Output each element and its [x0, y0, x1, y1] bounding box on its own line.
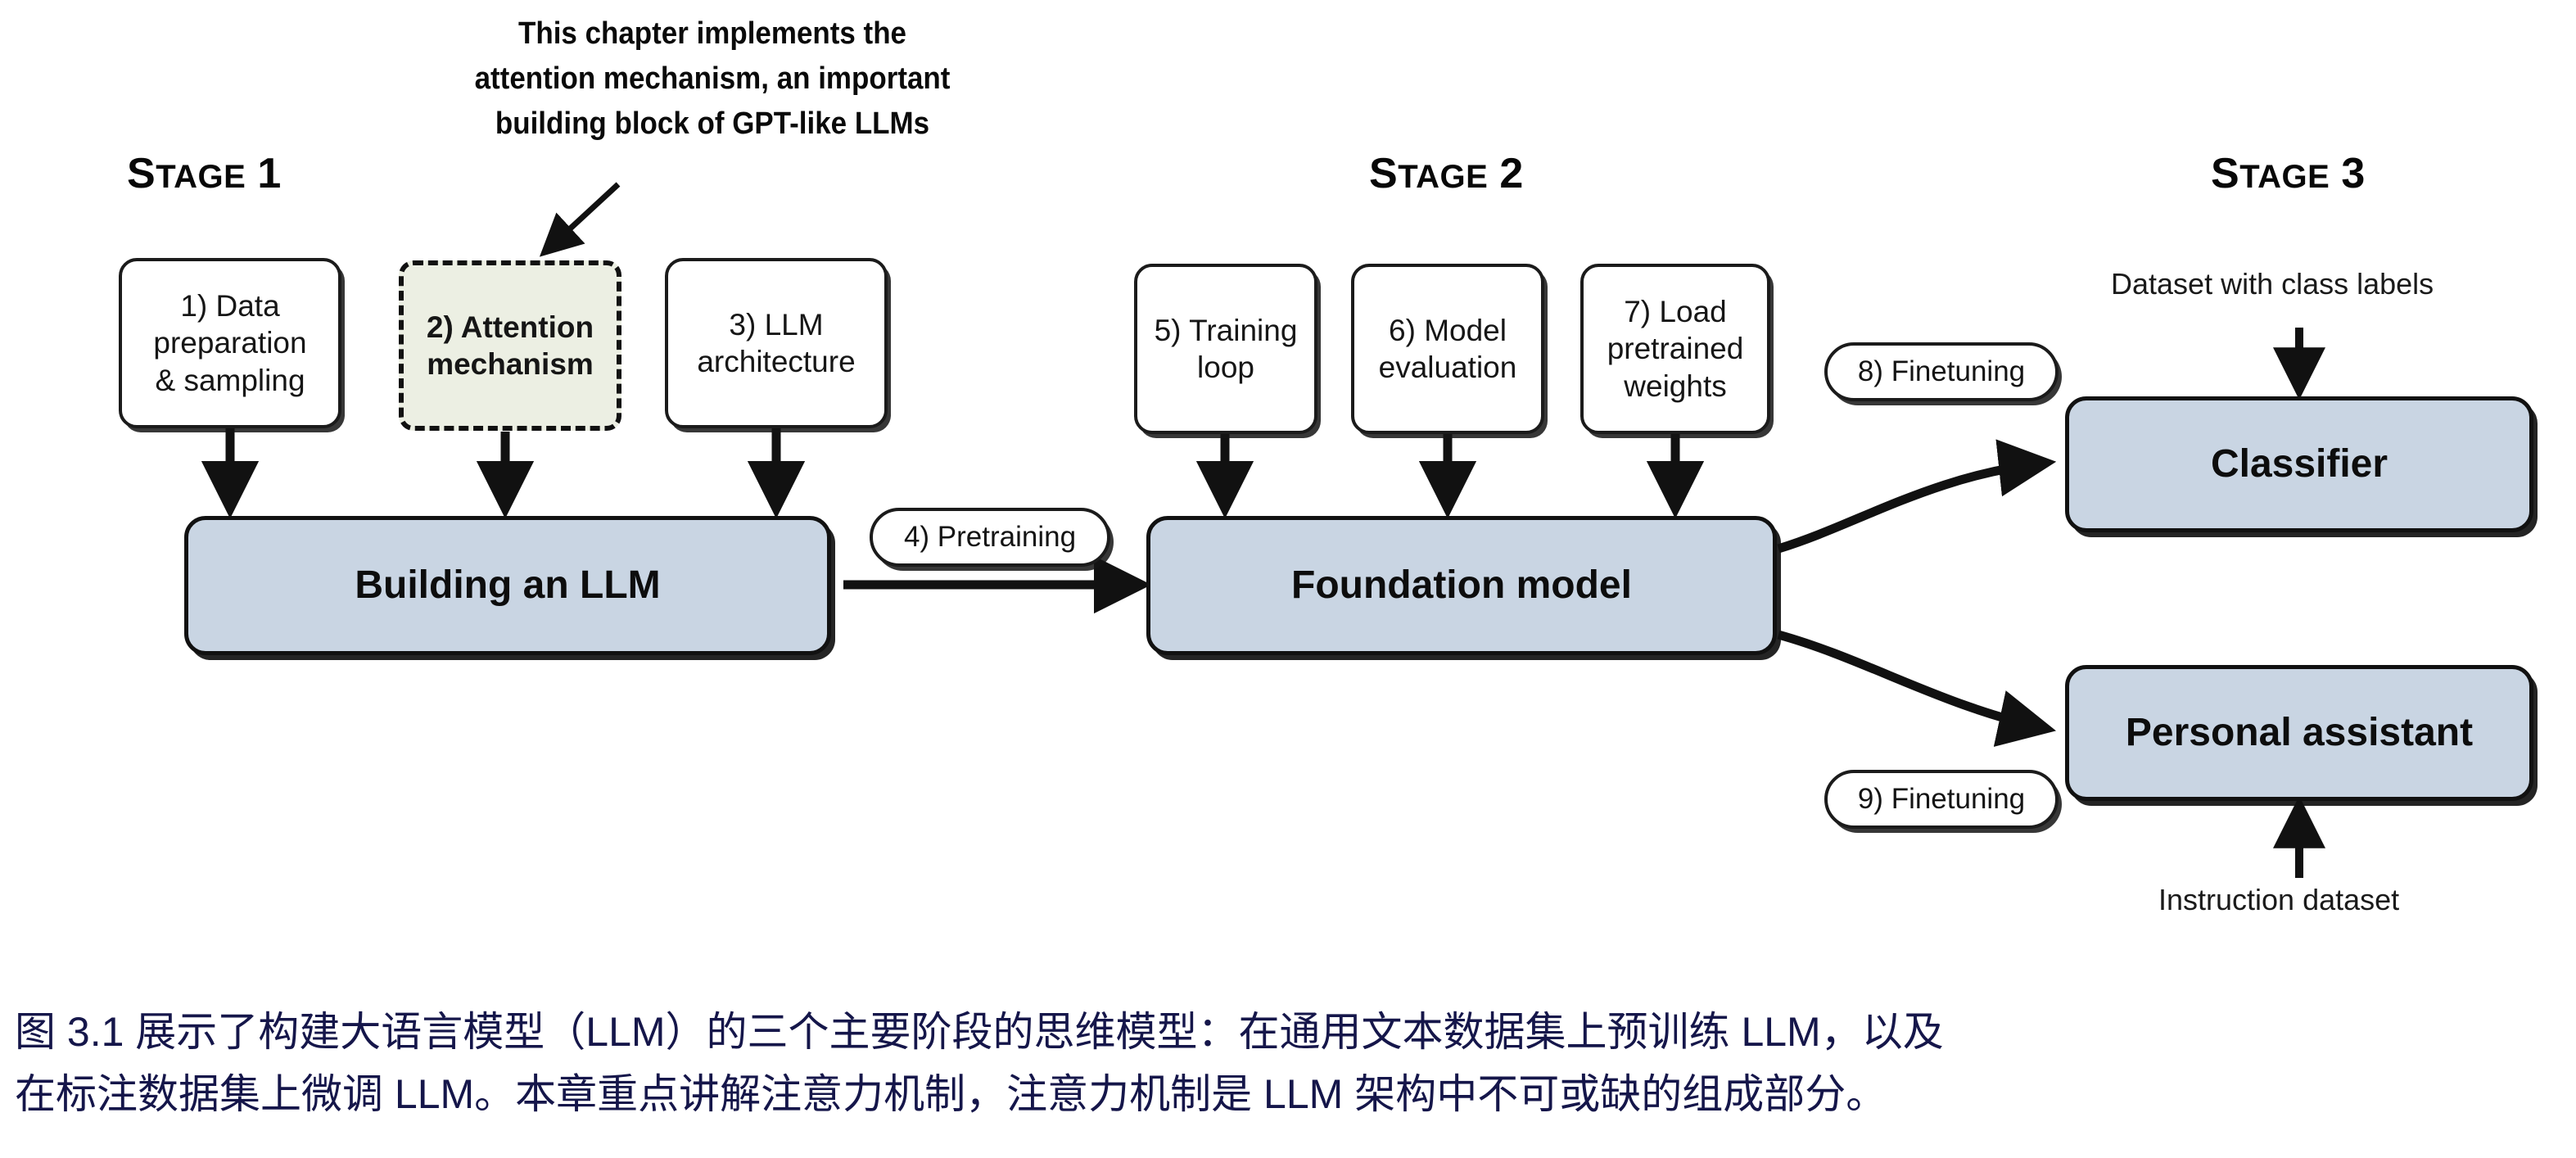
card3-line-2: architecture	[697, 343, 855, 380]
step-card-attention-mechanism[interactable]: 2) Attention mechanism	[399, 260, 621, 431]
stage1-number: 1	[257, 150, 281, 197]
card1-line-1: 1) Data	[153, 287, 306, 324]
callout-line-1: This chapter implements the	[426, 11, 998, 57]
step-card-training-loop[interactable]: 5) Training loop	[1134, 264, 1317, 434]
edge-label-finetuning-classifier[interactable]: 8) Finetuning	[1824, 342, 2059, 401]
card1-line-3: & sampling	[153, 362, 306, 399]
foundation-model-label: Foundation model	[1291, 562, 1632, 610]
class-labels-text: Dataset with class labels	[2111, 267, 2434, 301]
result-box-building-an-llm[interactable]: Building an LLM	[184, 516, 831, 655]
stage-heading-3: STAGE3	[2211, 149, 2366, 198]
callout-line-2: attention mechanism, an important	[426, 57, 998, 102]
step-card-load-pretrained-weights[interactable]: 7) Load pretrained weights	[1580, 264, 1770, 434]
stage2-prefix: S	[1369, 150, 1398, 197]
input-label-dataset-with-class-labels: Dataset with class labels	[2111, 267, 2434, 301]
figure-canvas: This chapter implements the attention me…	[0, 0, 2576, 1158]
classifier-label: Classifier	[2211, 441, 2388, 489]
stage3-number: 3	[2341, 150, 2365, 197]
edge-label-pretraining[interactable]: 4) Pretraining	[870, 508, 1110, 567]
card5-line-2: loop	[1155, 349, 1298, 386]
card2-line-1: 2) Attention	[427, 309, 594, 346]
result-box-foundation-model[interactable]: Foundation model	[1146, 516, 1777, 655]
card7-line-2: pretrained	[1607, 330, 1744, 367]
chapter-callout: This chapter implements the attention me…	[426, 11, 998, 147]
finetuning-8-label: 8) Finetuning	[1858, 355, 2025, 390]
result-box-personal-assistant[interactable]: Personal assistant	[2065, 665, 2533, 801]
step-card-model-evaluation[interactable]: 6) Model evaluation	[1351, 264, 1544, 434]
stage2-number: 2	[1499, 150, 1523, 197]
pretraining-label: 4) Pretraining	[904, 520, 1076, 555]
caption-line-2: 在标注数据集上微调 LLM。本章重点讲解注意力机制，注意力机制是 LLM 架构中…	[15, 1063, 2561, 1125]
card5-line-1: 5) Training	[1155, 312, 1298, 349]
callout-pointer-arrow	[545, 184, 618, 252]
stage3-prefix: S	[2211, 150, 2239, 197]
card6-line-1: 6) Model	[1379, 312, 1517, 349]
step-card-llm-architecture[interactable]: 3) LLM architecture	[665, 258, 888, 428]
card7-line-3: weights	[1607, 368, 1744, 405]
arrow-foundation-to-classifier	[1778, 463, 2047, 549]
card3-line-1: 3) LLM	[697, 306, 855, 343]
callout-line-3: building block of GPT-like LLMs	[426, 102, 998, 147]
step-card-data-preparation[interactable]: 1) Data preparation & sampling	[119, 258, 341, 428]
stage-heading-2: STAGE2	[1369, 149, 1524, 198]
finetuning-9-label: 9) Finetuning	[1858, 782, 2025, 817]
result-box-classifier[interactable]: Classifier	[2065, 396, 2533, 532]
caption-line-1: 图 3.1 展示了构建大语言模型（LLM）的三个主要阶段的思维模型：在通用文本数…	[15, 1001, 2561, 1063]
edge-label-finetuning-assistant[interactable]: 9) Finetuning	[1824, 770, 2059, 829]
stage1-prefix: S	[127, 150, 156, 197]
card2-line-2: mechanism	[427, 346, 594, 382]
instruction-dataset-text: Instruction dataset	[2158, 883, 2399, 916]
input-label-instruction-dataset: Instruction dataset	[2158, 883, 2399, 917]
stage2-rest: TAGE	[1398, 159, 1488, 195]
stage3-rest: TAGE	[2239, 159, 2330, 195]
building-an-llm-label: Building an LLM	[355, 562, 660, 610]
stage-heading-1: STAGE1	[127, 149, 282, 198]
card7-line-1: 7) Load	[1607, 293, 1744, 330]
arrow-foundation-to-assistant	[1778, 635, 2047, 729]
stage1-rest: TAGE	[156, 159, 246, 195]
figure-caption: 图 3.1 展示了构建大语言模型（LLM）的三个主要阶段的思维模型：在通用文本数…	[15, 1001, 2561, 1125]
personal-assistant-label: Personal assistant	[2126, 709, 2473, 758]
card1-line-2: preparation	[153, 324, 306, 361]
card6-line-2: evaluation	[1379, 349, 1517, 386]
